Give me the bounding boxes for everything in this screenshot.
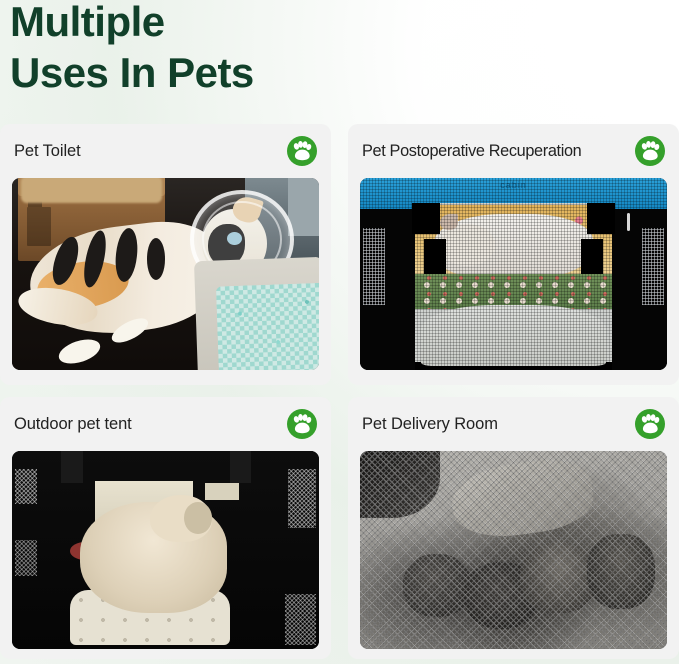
card-title: Pet Delivery Room	[362, 414, 498, 434]
paw-print-icon	[287, 136, 317, 166]
page-title: Multiple Uses In Pets	[10, 0, 430, 98]
card-title: Outdoor pet tent	[14, 414, 132, 434]
page-title-line-2: Uses In Pets	[10, 47, 430, 98]
card-photo	[12, 451, 319, 649]
card-photo	[360, 451, 667, 649]
paw-print-icon	[635, 409, 665, 439]
paw-print-icon	[287, 409, 317, 439]
card-header: Outdoor pet tent	[0, 397, 331, 451]
card-title: Pet Toilet	[14, 141, 81, 161]
use-case-card-outdoor-pet-tent: Outdoor pet tent	[0, 397, 331, 659]
card-photo	[12, 178, 319, 370]
use-case-card-pet-delivery-room: Pet Delivery Room	[348, 397, 679, 659]
use-case-card-pet-toilet: Pet Toilet	[0, 124, 331, 385]
card-header: Pet Postoperative Recuperation	[348, 124, 679, 178]
use-case-grid: Pet Toilet	[0, 124, 679, 659]
card-photo: cabin	[360, 178, 667, 370]
card-header: Pet Toilet	[0, 124, 331, 178]
page-title-line-1: Multiple	[10, 0, 165, 45]
card-header: Pet Delivery Room	[348, 397, 679, 451]
use-case-card-pet-postoperative-recuperation: Pet Postoperative Recuperation cabin	[348, 124, 679, 385]
promo-image: Multiple Uses In Pets Pet Toilet	[0, 0, 679, 664]
paw-print-icon	[635, 136, 665, 166]
card-title: Pet Postoperative Recuperation	[362, 141, 581, 161]
